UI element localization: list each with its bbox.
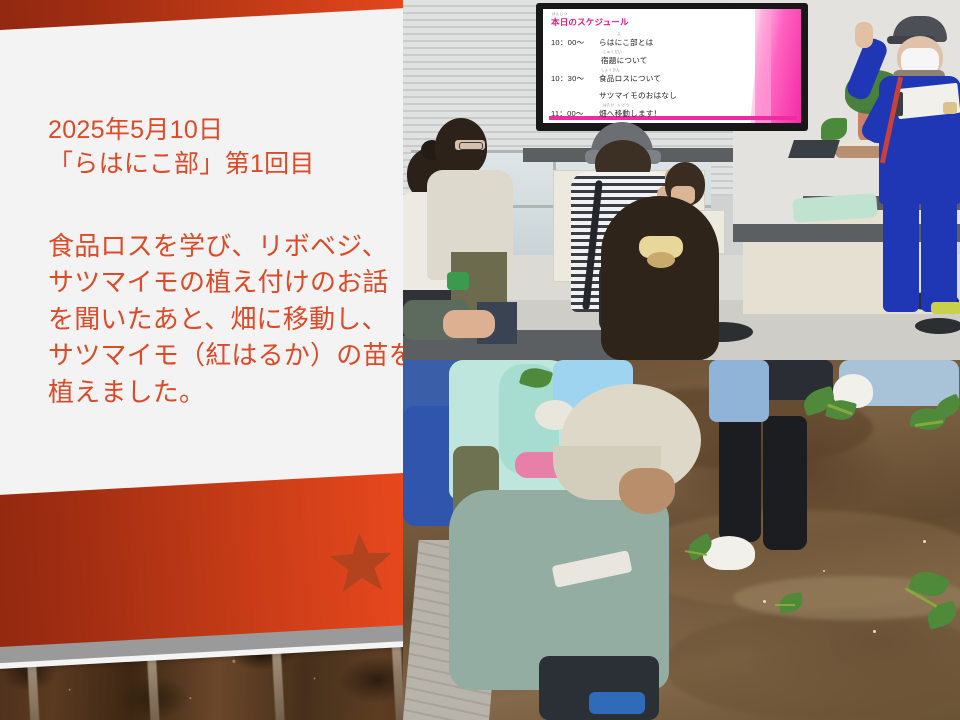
slide-row-0-text: らはにこ部とは [599, 37, 653, 48]
presentation-slide: 2025年5月10日 「らはにこ部」第1回目 食品ロスを学び、リボベジ、 サツマ… [0, 0, 960, 720]
stool-right-lower [915, 318, 960, 334]
body-line-2: サツマイモの植え付けのお話 [48, 264, 403, 300]
photo-field-planting [403, 360, 960, 720]
slide-title-text: 本日のスケジュール [551, 16, 629, 28]
rubber-boot-right [763, 416, 807, 550]
slide-row-2-time: 10：30〜 [551, 73, 584, 84]
title-line-2: 「らはにこ部」第1回目 [48, 148, 315, 182]
slide-bottom-bar [549, 116, 797, 120]
boot-wearer-pants [709, 360, 769, 422]
slide-row-2-text: 食品ロスについて [599, 73, 661, 84]
small-plant [821, 118, 847, 140]
slide-row-4-time: 11：00〜 [551, 108, 584, 119]
open-laptop [788, 140, 840, 158]
slide-title: 2025年5月10日 「らはにこ部」第1回目 [48, 114, 315, 181]
rubber-boot-left [719, 412, 761, 542]
child-face [619, 468, 675, 514]
title-line-1: 2025年5月10日 [48, 114, 315, 148]
slide-row-1-text: 宿題について [601, 55, 648, 66]
soil-sample [835, 146, 883, 158]
blue-tool-handle [589, 692, 645, 714]
projector-slide: ほんじつ 本日のスケジュール 10：00〜 ぶ らはにこ部とは しゅくだい 宿題… [543, 9, 801, 123]
photo-classroom-lecture: ほんじつ 本日のスケジュール 10：00〜 ぶ らはにこ部とは しゅくだい 宿題… [403, 0, 960, 360]
body-line-1: 食品ロスを学び、リボベジ、 [48, 228, 403, 264]
slide-row-3-text: サツマイモのおはなし [599, 90, 677, 101]
slide-row-4-text: 畑へ移動します！ [599, 108, 661, 119]
body-line-4: サツマイモ（紅はるか）の苗を [48, 337, 403, 373]
left-text-panel: 2025年5月10日 「らはにこ部」第1回目 食品ロスを学び、リボベジ、 サツマ… [0, 0, 403, 720]
slide-row-0-time: 10：00〜 [551, 37, 584, 48]
wall-monitor: ほんじつ 本日のスケジュール 10：00〜 ぶ らはにこ部とは しゅくだい 宿題… [536, 3, 808, 131]
body-line-5: 植えました。 [48, 374, 403, 410]
body-line-3: を聞いたあと、畑に移動し、 [48, 301, 403, 337]
slide-body-text: 食品ロスを学び、リボベジ、 サツマイモの植え付けのお話 を聞いたあと、畑に移動し… [48, 228, 403, 410]
